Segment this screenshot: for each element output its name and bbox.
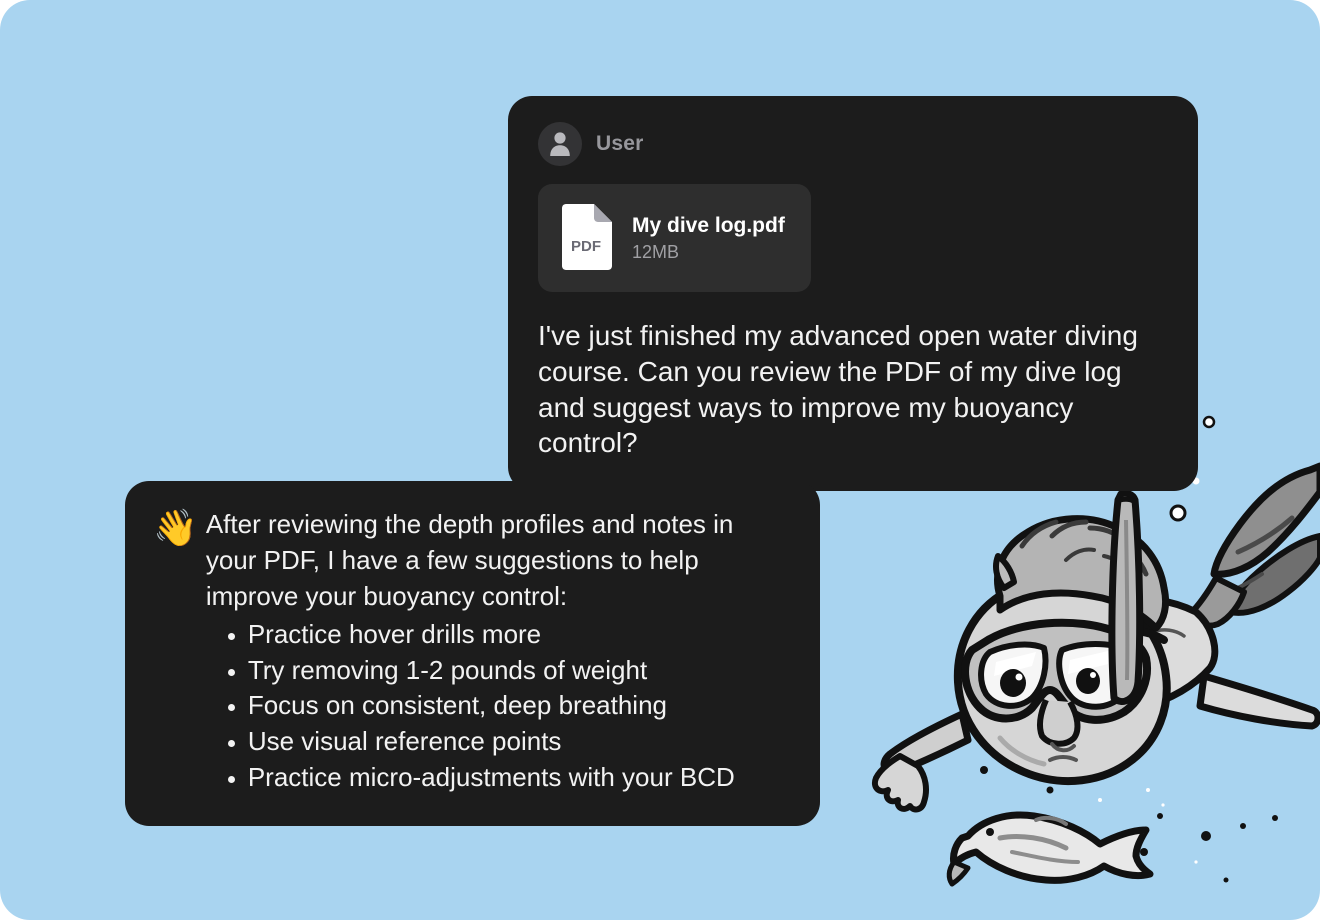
suggestion-item: Practice hover drills more bbox=[224, 617, 790, 653]
user-message-header: User bbox=[538, 122, 1168, 166]
person-avatar-icon bbox=[538, 122, 582, 166]
suggestion-item: Focus on consistent, deep breathing bbox=[224, 688, 790, 724]
attachment-file-size: 12MB bbox=[632, 243, 785, 261]
svg-text:PDF: PDF bbox=[571, 238, 601, 255]
assistant-message-bubble: 👋 After reviewing the depth profiles and… bbox=[125, 481, 820, 826]
chat-thread: User PDF My dive log.pdf 12MB I've just … bbox=[0, 0, 1320, 920]
assistant-message-text: After reviewing the depth profiles and n… bbox=[206, 507, 790, 615]
suggestion-item: Try removing 1-2 pounds of weight bbox=[224, 653, 790, 689]
suggestions-list: Practice hover drills moreTry removing 1… bbox=[206, 617, 790, 796]
attachment-file-name: My dive log.pdf bbox=[632, 215, 785, 236]
message-author-label: User bbox=[596, 132, 644, 156]
user-message-bubble: User PDF My dive log.pdf 12MB I've just … bbox=[508, 96, 1198, 491]
waving-hand-emoji: 👋 bbox=[153, 510, 198, 546]
pdf-file-icon: PDF bbox=[558, 202, 614, 274]
page-root: User PDF My dive log.pdf 12MB I've just … bbox=[0, 0, 1320, 920]
attachment-chip[interactable]: PDF My dive log.pdf 12MB bbox=[538, 184, 811, 292]
user-message-text: I've just finished my advanced open wate… bbox=[538, 318, 1168, 461]
suggestion-item: Use visual reference points bbox=[224, 724, 790, 760]
suggestion-item: Practice micro-adjustments with your BCD bbox=[224, 760, 790, 796]
